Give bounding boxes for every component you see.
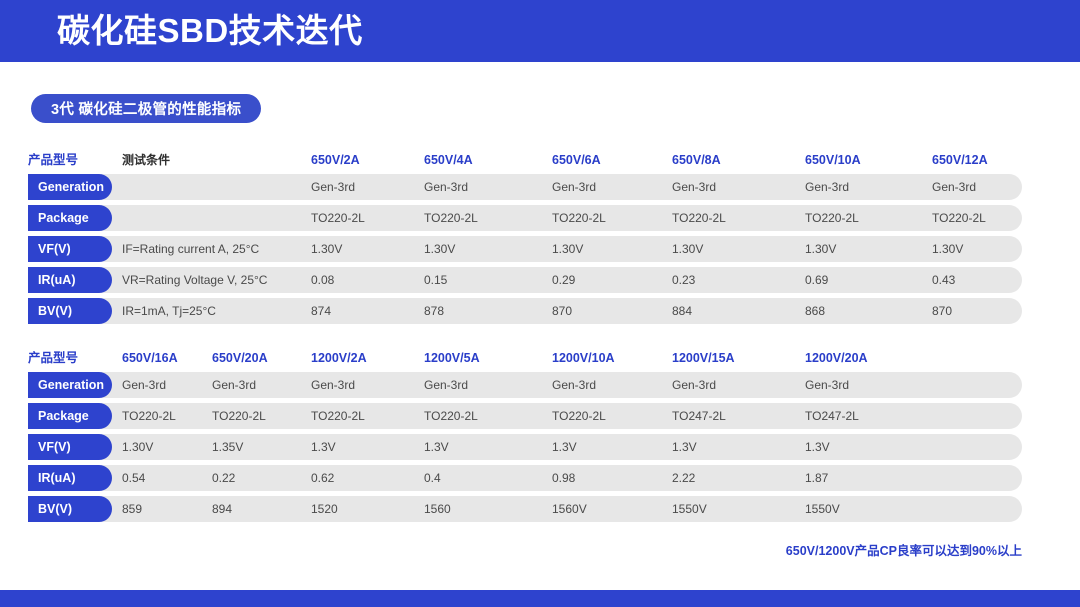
column-header-part: 650V/8A bbox=[672, 152, 721, 168]
cell-value: 0.4 bbox=[424, 465, 441, 491]
section-badge-label: 3代 碳化硅二极管的性能指标 bbox=[51, 98, 241, 119]
cell-value: Gen-3rd bbox=[424, 174, 468, 200]
cell-value: 1.30V bbox=[552, 236, 583, 262]
cell-test-condition: IR=1mA, Tj=25°C bbox=[122, 298, 216, 324]
row-background bbox=[28, 372, 1022, 398]
table-header-row: 产品型号650V/16A650V/20A1200V/2A1200V/5A1200… bbox=[0, 350, 1080, 372]
table-row: IR(uA)VR=Rating Voltage V, 25°C0.080.150… bbox=[0, 267, 1080, 298]
row-background bbox=[28, 403, 1022, 429]
cell-value: Gen-3rd bbox=[424, 372, 468, 398]
page-title: 碳化硅SBD技术迭代 bbox=[57, 9, 363, 53]
cell-test-condition: IF=Rating current A, 25°C bbox=[122, 236, 259, 262]
cell-value: 0.98 bbox=[552, 465, 575, 491]
cell-value: Gen-3rd bbox=[552, 174, 596, 200]
row-label-pill: VF(V) bbox=[28, 236, 112, 262]
row-background bbox=[28, 434, 1022, 460]
footer-note: 650V/1200V产品CP良率可以达到90%以上 bbox=[786, 540, 1022, 559]
cell-value: Gen-3rd bbox=[552, 372, 596, 398]
cell-test-condition: VR=Rating Voltage V, 25°C bbox=[122, 267, 267, 293]
cell-value: Gen-3rd bbox=[672, 372, 716, 398]
table-row: PackageTO220-2LTO220-2LTO220-2LTO220-2LT… bbox=[0, 205, 1080, 236]
cell-value: 0.08 bbox=[311, 267, 334, 293]
row-background bbox=[28, 205, 1022, 231]
cell-value: 1.30V bbox=[424, 236, 455, 262]
cell-value: 859 bbox=[122, 496, 142, 522]
row-background bbox=[28, 465, 1022, 491]
cell-value: 870 bbox=[552, 298, 572, 324]
column-header-part: 650V/12A bbox=[932, 152, 988, 168]
table-row: VF(V)1.30V1.35V1.3V1.3V1.3V1.3V1.3V bbox=[0, 434, 1080, 465]
cell-value: Gen-3rd bbox=[311, 174, 355, 200]
cell-value: TO220-2L bbox=[424, 205, 478, 231]
cell-value: TO220-2L bbox=[311, 403, 365, 429]
cell-value: TO247-2L bbox=[672, 403, 726, 429]
cell-value: 1550V bbox=[805, 496, 840, 522]
cell-value: 1.30V bbox=[122, 434, 153, 460]
row-label-pill: IR(uA) bbox=[28, 267, 112, 293]
column-header-product-model: 产品型号 bbox=[28, 152, 78, 168]
row-label-pill: BV(V) bbox=[28, 298, 112, 324]
cell-value: Gen-3rd bbox=[805, 372, 849, 398]
column-header-part: 1200V/5A bbox=[424, 350, 480, 366]
cell-value: 0.69 bbox=[805, 267, 828, 293]
cell-value: 0.23 bbox=[672, 267, 695, 293]
row-label-pill: Package bbox=[28, 403, 112, 429]
cell-value: 0.22 bbox=[212, 465, 235, 491]
cell-value: Gen-3rd bbox=[212, 372, 256, 398]
column-header-part: 650V/4A bbox=[424, 152, 473, 168]
cell-value: 874 bbox=[311, 298, 331, 324]
cell-value: 1.30V bbox=[672, 236, 703, 262]
cell-value: 1560V bbox=[552, 496, 587, 522]
table-row: GenerationGen-3rdGen-3rdGen-3rdGen-3rdGe… bbox=[0, 372, 1080, 403]
cell-value: 1.30V bbox=[805, 236, 836, 262]
cell-value: 878 bbox=[424, 298, 444, 324]
cell-value: 1.35V bbox=[212, 434, 243, 460]
section-badge: 3代 碳化硅二极管的性能指标 bbox=[31, 94, 261, 123]
cell-value: 1.3V bbox=[311, 434, 336, 460]
cell-value: 884 bbox=[672, 298, 692, 324]
row-background bbox=[28, 174, 1022, 200]
column-header-part: 650V/2A bbox=[311, 152, 360, 168]
cell-value: 1520 bbox=[311, 496, 338, 522]
column-header-part: 1200V/15A bbox=[672, 350, 735, 366]
cell-value: 870 bbox=[932, 298, 952, 324]
row-background bbox=[28, 496, 1022, 522]
row-label-pill: Generation bbox=[28, 174, 112, 200]
cell-value: 0.54 bbox=[122, 465, 145, 491]
row-label-pill: BV(V) bbox=[28, 496, 112, 522]
cell-value: 1.3V bbox=[805, 434, 830, 460]
column-header-part: 650V/16A bbox=[122, 350, 178, 366]
column-header-part: 650V/6A bbox=[552, 152, 601, 168]
table-row: VF(V)IF=Rating current A, 25°C1.30V1.30V… bbox=[0, 236, 1080, 267]
cell-value: TO247-2L bbox=[805, 403, 859, 429]
cell-value: Gen-3rd bbox=[311, 372, 355, 398]
column-header-part: 650V/20A bbox=[212, 350, 268, 366]
cell-value: 0.29 bbox=[552, 267, 575, 293]
cell-value: 2.22 bbox=[672, 465, 695, 491]
table-row: BV(V)859894152015601560V1550V1550V bbox=[0, 496, 1080, 527]
table-header-row: 产品型号测试条件650V/2A650V/4A650V/6A650V/8A650V… bbox=[0, 152, 1080, 174]
column-header-part: 1200V/10A bbox=[552, 350, 615, 366]
row-label-pill: VF(V) bbox=[28, 434, 112, 460]
cell-value: 1.3V bbox=[424, 434, 449, 460]
column-header-test-condition: 测试条件 bbox=[122, 152, 170, 168]
cell-value: 0.15 bbox=[424, 267, 447, 293]
row-label-pill: Package bbox=[28, 205, 112, 231]
table-row: BV(V)IR=1mA, Tj=25°C874878870884868870 bbox=[0, 298, 1080, 329]
cell-value: TO220-2L bbox=[424, 403, 478, 429]
cell-value: 1.3V bbox=[552, 434, 577, 460]
cell-value: 1550V bbox=[672, 496, 707, 522]
cell-value: TO220-2L bbox=[672, 205, 726, 231]
page-footer-bar bbox=[0, 590, 1080, 607]
spec-table-650v-part1: 产品型号测试条件650V/2A650V/4A650V/6A650V/8A650V… bbox=[0, 152, 1080, 329]
row-label-pill: IR(uA) bbox=[28, 465, 112, 491]
table-row: GenerationGen-3rdGen-3rdGen-3rdGen-3rdGe… bbox=[0, 174, 1080, 205]
cell-value: TO220-2L bbox=[212, 403, 266, 429]
cell-value: Gen-3rd bbox=[805, 174, 849, 200]
cell-value: 1.30V bbox=[932, 236, 963, 262]
row-label-pill: Generation bbox=[28, 372, 112, 398]
cell-value: 0.43 bbox=[932, 267, 955, 293]
cell-value: Gen-3rd bbox=[672, 174, 716, 200]
cell-value: TO220-2L bbox=[552, 205, 606, 231]
cell-value: 1.30V bbox=[311, 236, 342, 262]
cell-value: TO220-2L bbox=[552, 403, 606, 429]
column-header-part: 1200V/20A bbox=[805, 350, 868, 366]
cell-value: 868 bbox=[805, 298, 825, 324]
table-row: IR(uA)0.540.220.620.40.982.221.87 bbox=[0, 465, 1080, 496]
cell-value: TO220-2L bbox=[122, 403, 176, 429]
cell-value: TO220-2L bbox=[311, 205, 365, 231]
cell-value: TO220-2L bbox=[805, 205, 859, 231]
table-row: PackageTO220-2LTO220-2LTO220-2LTO220-2LT… bbox=[0, 403, 1080, 434]
cell-value: 1.3V bbox=[672, 434, 697, 460]
column-header-product-model: 产品型号 bbox=[28, 350, 78, 366]
cell-value: 894 bbox=[212, 496, 232, 522]
column-header-part: 650V/10A bbox=[805, 152, 861, 168]
cell-value: Gen-3rd bbox=[122, 372, 166, 398]
column-header-part: 1200V/2A bbox=[311, 350, 367, 366]
cell-value: TO220-2L bbox=[932, 205, 986, 231]
spec-table-650v-1200v-part2: 产品型号650V/16A650V/20A1200V/2A1200V/5A1200… bbox=[0, 350, 1080, 527]
cell-value: 1.87 bbox=[805, 465, 828, 491]
cell-value: 1560 bbox=[424, 496, 451, 522]
cell-value: Gen-3rd bbox=[932, 174, 976, 200]
cell-value: 0.62 bbox=[311, 465, 334, 491]
